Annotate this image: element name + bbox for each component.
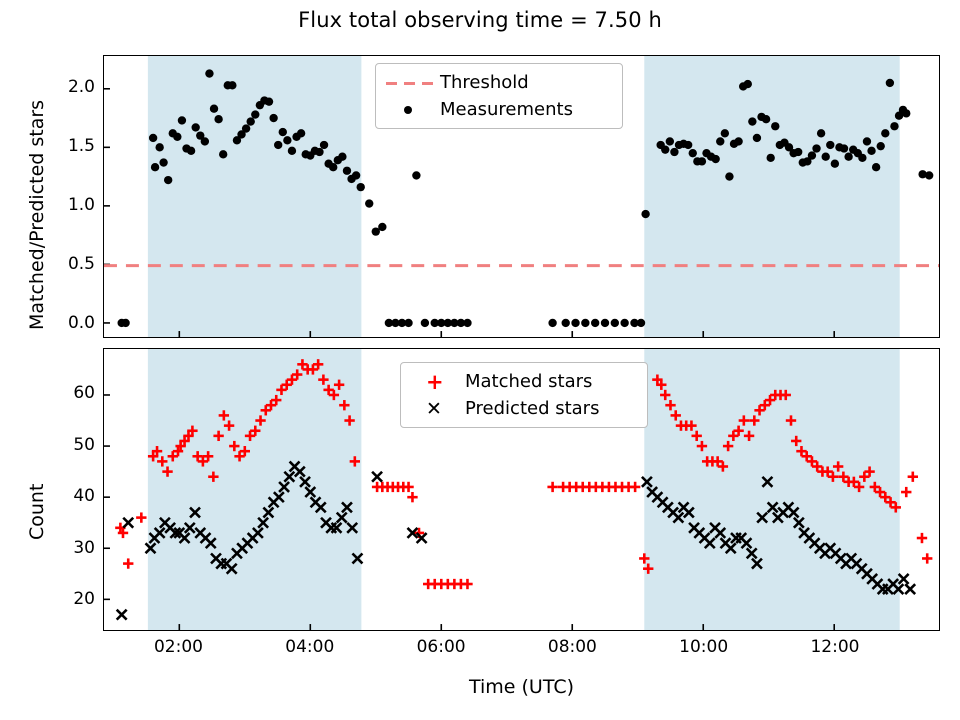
legend-label-threshold: Threshold	[436, 72, 529, 93]
y-tick-label: 0.0	[51, 313, 95, 333]
x-axis-ticks: 02:0004:0006:0008:0010:0012:00	[0, 637, 960, 663]
legend-top-panel: Threshold Measurements	[375, 63, 623, 129]
shaded-band	[644, 56, 899, 337]
legend-label-measurements: Measurements	[436, 99, 573, 120]
cross-marker-icon: ✕	[409, 398, 461, 420]
y-tick-label: 1.5	[51, 136, 95, 156]
y-tick-label: 2.0	[51, 77, 95, 97]
dashed-line-icon	[384, 72, 436, 94]
x-tick-label: 04:00	[285, 637, 334, 657]
legend-label-predicted-stars: Predicted stars	[461, 398, 599, 419]
legend-item-threshold: Threshold	[384, 69, 612, 96]
y-tick-label: 30	[51, 538, 95, 558]
x-tick-label: 06:00	[417, 637, 466, 657]
plus-marker-icon: +	[409, 371, 461, 393]
x-tick-label: 08:00	[548, 637, 597, 657]
x-tick-label: 02:00	[154, 637, 203, 657]
y-tick-label: 40	[51, 486, 95, 506]
y-tick-label: 0.5	[51, 254, 95, 274]
y-axis-label-bottom: Count	[26, 484, 48, 540]
shaded-band	[644, 349, 899, 630]
dot-marker-icon	[384, 99, 436, 121]
x-tick-label: 12:00	[810, 637, 859, 657]
legend-item-predicted-stars: ✕ Predicted stars	[409, 395, 637, 422]
legend-bottom-panel: + Matched stars ✕ Predicted stars	[400, 362, 648, 428]
figure-title: Flux total observing time = 7.50 h	[0, 8, 960, 32]
y-axis-label-top: Matched/Predicted stars	[26, 100, 48, 330]
legend-label-matched-stars: Matched stars	[461, 371, 592, 392]
y-tick-label: 60	[51, 383, 95, 403]
y-tick-label: 20	[51, 589, 95, 609]
legend-item-matched-stars: + Matched stars	[409, 368, 637, 395]
figure-canvas: Flux total observing time = 7.50 h 0.00.…	[0, 0, 960, 720]
y-tick-label: 1.0	[51, 195, 95, 215]
x-axis-label: Time (UTC)	[103, 676, 940, 698]
x-tick-label: 10:00	[679, 637, 728, 657]
shaded-band	[148, 56, 361, 337]
legend-item-measurements: Measurements	[384, 96, 612, 123]
y-tick-label: 50	[51, 435, 95, 455]
